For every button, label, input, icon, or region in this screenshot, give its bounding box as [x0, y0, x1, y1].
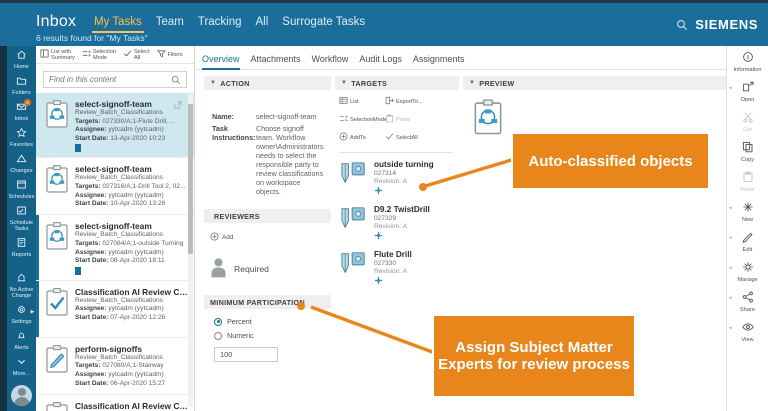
targets-selection-mode-button[interactable]: SelectionMode — [339, 114, 385, 125]
task-subtitle: Review_Batch_Classifications — [75, 174, 188, 183]
target-expand-icon[interactable] — [374, 231, 459, 243]
targets-add-to-button[interactable]: AddTo — [339, 132, 385, 143]
target-id: 027330 — [374, 260, 459, 268]
page-title: Inbox — [36, 13, 76, 31]
radio-percent-label: Percent — [227, 317, 252, 326]
rail-label: No Active Change — [7, 287, 36, 299]
tab-assignments[interactable]: Assignments — [413, 54, 465, 70]
target-revision-label: Revision: — [374, 223, 401, 230]
tab-overview[interactable]: Overview — [202, 54, 240, 70]
task-subtitle: Review_Batch_Classifications — [75, 297, 188, 306]
btn-line2: All — [412, 135, 418, 141]
task-title: Classification AI Review Clas... — [75, 401, 188, 411]
reviewer-label: Required — [234, 264, 269, 274]
paste-icon — [742, 174, 754, 186]
chevron-left-icon[interactable]: ◂ — [729, 295, 732, 301]
rail-label: Settings — [7, 319, 36, 325]
popout-icon[interactable] — [174, 100, 182, 112]
filter-icon — [157, 49, 166, 60]
search-input-wrapper[interactable] — [43, 71, 187, 88]
header-tab-all[interactable]: All — [254, 16, 271, 31]
btn-line1: Select — [396, 135, 412, 141]
folder-icon — [7, 75, 36, 89]
filters-button[interactable]: Filters — [157, 49, 183, 60]
btn-line2: To... — [412, 99, 423, 105]
task-list-item[interactable]: select-signoff-team Review_Batch_Classif… — [36, 93, 194, 158]
rail-label: More... — [7, 371, 36, 377]
btn-line1: Add — [350, 135, 360, 141]
task-targets-label: Targets: — [75, 362, 101, 369]
task-start-value: 13-Apr-2020 10:23 — [110, 135, 165, 142]
btn-line1: Paste — [396, 117, 410, 123]
rail-label: Favorites — [7, 142, 36, 148]
rail-item-alerts[interactable]: Alerts — [7, 327, 36, 353]
target-id: 027329 — [374, 215, 459, 223]
btn-line2: To — [360, 135, 366, 141]
tool-part-icon — [339, 160, 369, 198]
search-icon[interactable] — [171, 75, 181, 88]
target-expand-icon[interactable] — [374, 186, 459, 198]
search-input[interactable] — [49, 75, 169, 84]
select-all-button[interactable]: SelectAll — [123, 49, 150, 61]
btn-line2: Summary — [51, 55, 75, 61]
rail-item-schedule-tasks[interactable]: Schedule Tasks — [7, 202, 36, 234]
chevron-left-icon[interactable]: ◂ — [729, 325, 732, 331]
add-icon — [210, 232, 219, 243]
user-avatar[interactable] — [11, 385, 32, 406]
selection-mode-button[interactable]: SelectionMode — [82, 49, 116, 61]
action-instructions-label: Task Instructions: — [212, 124, 256, 196]
targets-select-all-button[interactable]: SelectAll — [385, 132, 431, 143]
task-targets-value: 027080/A;1-Stairway — [102, 362, 163, 369]
inbox-badge-count: 3 — [24, 99, 31, 106]
task-start-value: 07-Apr-2020 12:26 — [110, 314, 165, 321]
task-status-flag — [75, 267, 81, 275]
task-title: select-signoff-team — [75, 99, 188, 109]
task-assignee-value: yytcadm (yytcadm) — [108, 192, 163, 199]
header-tab-team[interactable]: Team — [154, 16, 186, 31]
task-assignee-value: yytcadm (yytcadm) — [108, 249, 163, 256]
callout-text: Assign Subject Matter Experts for review… — [434, 339, 634, 373]
target-revision-label: Revision: — [374, 178, 401, 185]
rail-item-folders[interactable]: Folders — [7, 72, 36, 98]
selection-mode-icon — [339, 114, 348, 125]
check-icon — [123, 49, 132, 60]
targets-paste-button[interactable]: Paste — [385, 114, 431, 125]
rail-label: Copy — [727, 157, 768, 163]
tab-attachments[interactable]: Attachments — [251, 54, 301, 70]
rail-label: Folders — [7, 90, 36, 96]
open-icon — [742, 84, 754, 96]
siemens-logo: SIEMENS — [695, 17, 758, 32]
list-with-summary-button[interactable]: List withSummary — [40, 49, 75, 61]
reviewers-body: Add Required — [204, 223, 331, 281]
task-list-item[interactable]: perform-signoffs Review_Batch_Classifica… — [36, 338, 194, 395]
rail-item-reports[interactable]: Reports — [7, 234, 36, 260]
check-icon — [385, 132, 394, 143]
task-list-item[interactable]: select-signoff-team Review_Batch_Classif… — [36, 215, 194, 280]
rail-label: Information — [727, 67, 768, 73]
results-count: 6 results found for "My Tasks" — [36, 33, 148, 43]
add-reviewer-button[interactable]: Add — [210, 232, 331, 243]
rail-item-more[interactable]: More... — [7, 353, 36, 379]
rail-label: Schedule Tasks — [7, 220, 36, 232]
bell-icon — [7, 330, 36, 344]
task-title: select-signoff-team — [75, 221, 188, 231]
header-tab-surrogate-tasks[interactable]: Surrogate Tasks — [280, 16, 367, 31]
rail-item-inbox[interactable]: 3 Inbox — [7, 98, 36, 124]
task-assignee-value: yytcadm (yytcadm) — [108, 371, 163, 378]
tab-workflow[interactable]: Workflow — [312, 54, 349, 70]
header-tab-tracking[interactable]: Tracking — [196, 16, 244, 31]
target-id: 027314 — [374, 170, 459, 178]
star-icon — [7, 127, 36, 141]
add-icon — [339, 132, 348, 143]
tool-part-icon — [339, 250, 369, 288]
task-assignee-value: yytcadm (yytcadm) — [108, 305, 163, 312]
rail-item-copy[interactable]: Copy — [727, 136, 768, 166]
clipboard-check-icon — [44, 401, 70, 411]
target-name: outside turning — [374, 160, 459, 170]
rail-label: Inbox — [7, 116, 36, 122]
reports-icon — [7, 237, 36, 251]
target-revision-value: A — [403, 268, 407, 275]
rail-item-open[interactable]: ◂ Open — [727, 76, 768, 106]
task-title: Classification AI Review Clas... — [75, 287, 188, 297]
chevron-down-icon[interactable]: ▼ — [341, 80, 347, 86]
action-column: ▼ ACTION Name: select-signoff-team Task … — [196, 76, 331, 362]
selection-mode-icon — [82, 49, 91, 60]
task-assignee-value: yytcadm (yytcadm) — [108, 126, 163, 133]
action-name-label: Name: — [212, 112, 256, 121]
action-section-header[interactable]: ▼ ACTION — [204, 76, 331, 90]
action-name-value: select-signoff-team — [256, 112, 323, 121]
task-subtitle: Review_Batch_Classifications — [75, 231, 188, 240]
task-list-item[interactable]: Classification AI Review Clas... Review_… — [36, 395, 194, 411]
chevron-down-icon[interactable]: ▼ — [210, 80, 216, 86]
rail-item-home[interactable]: Home — [7, 46, 36, 72]
btn-line2: All — [134, 55, 150, 61]
task-subtitle: Review_Batch_Classifications — [75, 109, 188, 118]
task-start-value: 08-Apr-2020 18:11 — [110, 257, 165, 264]
section-title: TARGETS — [351, 79, 387, 88]
task-targets-label: Targets: — [75, 118, 101, 125]
list-scrollbar-thumb[interactable] — [188, 104, 193, 254]
task-title: select-signoff-team — [75, 164, 188, 174]
chevron-left-icon[interactable]: ◂ — [729, 85, 732, 91]
list-summary-icon — [40, 49, 49, 60]
task-start-label: Start Date: — [75, 257, 108, 264]
btn-line1: Export — [396, 99, 412, 105]
target-revision-value: A — [403, 223, 407, 230]
rail-item-cut[interactable]: Cut — [727, 106, 768, 136]
share-icon — [742, 294, 754, 306]
targets-export-button[interactable]: ExportTo... — [385, 96, 431, 107]
task-targets-value: 027084/A;1-outside Turning — [102, 240, 183, 247]
rail-label: Alerts — [7, 345, 36, 351]
rail-label: Share — [727, 307, 768, 313]
task-targets-label: Targets: — [75, 183, 101, 190]
list-scrollbar[interactable] — [188, 94, 193, 407]
detail-tabs: Overview Attachments Workflow Audit Logs… — [196, 46, 726, 70]
rail-divider — [7, 260, 36, 269]
application-window: Inbox My Tasks Team Tracking All Surroga… — [0, 0, 768, 411]
task-assignee-label: Assignee: — [75, 371, 107, 378]
chevron-down-icon — [7, 356, 36, 370]
radio-numeric-label: Numeric — [227, 331, 254, 340]
minimum-participation-body: Percent Numeric 100 — [204, 309, 331, 362]
person-icon — [210, 257, 227, 281]
chevron-right-icon: ▶ — [31, 309, 35, 315]
btn-line1: List — [350, 99, 359, 105]
rail-label: Manage — [727, 277, 768, 283]
rail-label: Paste — [727, 187, 768, 193]
chevron-left-icon[interactable]: ◂ — [729, 265, 732, 271]
header-tab-my-tasks[interactable]: My Tasks — [92, 16, 144, 33]
left-navigation-rail: Home Folders 3 Inbox Favorites — [7, 3, 36, 411]
task-start-value: 06-Apr-2020 15:27 — [110, 380, 165, 387]
chevron-left-icon[interactable]: ◂ — [729, 235, 732, 241]
btn-line2: Mode — [93, 55, 116, 61]
action-instructions-value: Choose signoff team. Workflow owner\Admi… — [256, 124, 324, 196]
view-icon — [742, 324, 754, 336]
schedules-icon — [7, 179, 36, 193]
rail-item-information[interactable]: Information — [727, 46, 768, 76]
target-item[interactable]: outside turning 027314 Revision: A — [335, 153, 459, 198]
task-targets-value: 027316/A;1-Drill Tool 2, 02... — [102, 183, 185, 190]
chevron-down-icon[interactable]: ▼ — [469, 80, 475, 86]
task-targets-value: 027330/A;1-Flute Drill, ... — [102, 118, 175, 125]
rail-item-paste[interactable]: Paste — [727, 166, 768, 196]
target-expand-icon[interactable] — [374, 276, 459, 288]
rail-item-new[interactable]: ◂ New — [727, 196, 768, 226]
header-tabs: My Tasks Team Tracking All Surrogate Tas… — [92, 16, 367, 33]
btn-line1: Selection — [93, 49, 116, 55]
callout-text: Auto-classified objects — [528, 153, 692, 170]
action-instructions-row: Task Instructions: Choose signoff team. … — [212, 124, 323, 199]
section-title: PREVIEW — [479, 79, 514, 88]
clipboard-check-icon — [44, 287, 70, 332]
rail-label: View — [727, 337, 768, 343]
target-revision-label: Revision: — [374, 268, 401, 275]
task-assignee-label: Assignee: — [75, 249, 107, 256]
rail-item-settings[interactable]: ▶ Settings — [7, 301, 36, 327]
task-status-flag — [75, 144, 81, 152]
add-reviewer-label: Add — [222, 234, 233, 241]
paste-icon — [385, 114, 394, 125]
task-start-label: Start Date: — [75, 200, 108, 207]
section-title: MINIMUM PARTICIPATION — [210, 298, 305, 307]
rail-label: New — [727, 217, 768, 223]
preview-section-header[interactable]: ▼ PREVIEW — [463, 76, 726, 90]
task-list-item[interactable]: select-signoff-team Review_Batch_Classif… — [36, 158, 194, 215]
callout-auto-classified: Auto-classified objects — [513, 134, 708, 188]
targets-section-header[interactable]: ▼ TARGETS — [335, 76, 459, 90]
triangle-change-icon — [7, 153, 36, 167]
reviewer-item[interactable]: Required — [210, 257, 331, 281]
rail-label: Open — [727, 97, 768, 103]
task-assignee-label: Assignee: — [75, 305, 107, 312]
participation-value-input[interactable]: 100 — [214, 347, 278, 362]
btn-line1: Filters — [168, 52, 183, 58]
search-icon[interactable] — [676, 19, 688, 34]
task-subtitle: Review_Batch_Classifications — [75, 354, 188, 363]
home-icon — [7, 49, 36, 63]
right-command-rail: Information ◂ Open Cut Copy Paste ◂ New … — [726, 46, 768, 411]
rail-item-manage[interactable]: ◂ Manage — [727, 256, 768, 286]
radio-percent[interactable] — [214, 318, 222, 326]
section-title: REVIEWERS — [214, 212, 260, 221]
rail-item-view[interactable]: ◂ View — [727, 316, 768, 346]
task-start-label: Start Date: — [75, 380, 108, 387]
task-list[interactable]: select-signoff-team Review_Batch_Classif… — [36, 93, 194, 411]
radio-option-numeric[interactable]: Numeric — [214, 331, 331, 340]
task-start-label: Start Date: — [75, 135, 108, 142]
task-assignee-label: Assignee: — [75, 126, 107, 133]
rail-item-favorites[interactable]: Favorites — [7, 124, 36, 150]
task-assignee-label: Assignee: — [75, 192, 107, 199]
btn-line1: Selection — [350, 117, 373, 123]
action-name-row: Name: select-signoff-team — [212, 112, 323, 124]
rail-item-changes[interactable]: Changes — [7, 150, 36, 176]
task-start-value: 10-Apr-2020 13:28 — [110, 200, 165, 207]
reviewers-section-header[interactable]: REVIEWERS — [204, 209, 331, 223]
task-targets-label: Targets: — [75, 240, 101, 247]
tab-audit-logs[interactable]: Audit Logs — [359, 54, 402, 70]
callout-anchor-2 — [297, 302, 305, 310]
rail-item-schedules[interactable]: Schedules — [7, 176, 36, 202]
rail-item-share[interactable]: ◂ Share — [727, 286, 768, 316]
btn-line1: Select — [134, 49, 150, 55]
target-name: D9.2 TwistDrill — [374, 205, 459, 215]
rail-label: Changes — [7, 168, 36, 174]
radio-numeric[interactable] — [214, 332, 222, 340]
export-icon — [385, 96, 394, 107]
clipboard-classify-icon — [44, 164, 70, 209]
list-toolbar: List withSummary SelectionMode SelectAll… — [36, 46, 194, 64]
cut-icon — [742, 114, 754, 126]
target-item[interactable]: Flute Drill 027330 Revision: A — [335, 243, 459, 288]
rail-label: Edit — [727, 247, 768, 253]
radio-option-percent[interactable]: Percent — [214, 317, 331, 326]
task-list-pane: List withSummary SelectionMode SelectAll… — [36, 46, 195, 411]
target-revision-value: A — [403, 178, 407, 185]
window-left-edge — [0, 0, 7, 411]
no-active-change-icon — [7, 272, 36, 286]
callout-anchor-1 — [419, 183, 427, 191]
manage-icon — [742, 264, 754, 276]
copy-icon — [742, 144, 754, 156]
callout-assign-sme: Assign Subject Matter Experts for review… — [434, 316, 634, 396]
targets-toolbar: List ExportTo... SelectionMode — [335, 90, 459, 151]
rail-label: Home — [7, 64, 36, 70]
new-icon — [742, 204, 754, 216]
chevron-left-icon[interactable]: ◂ — [729, 205, 732, 211]
minimum-participation-section-header[interactable]: MINIMUM PARTICIPATION — [204, 295, 331, 309]
task-start-label: Start Date: — [75, 314, 108, 321]
clipboard-classify-icon — [44, 221, 70, 274]
schedule-tasks-icon — [7, 205, 36, 219]
clipboard-classify-icon — [44, 99, 70, 152]
clipboard-classify-icon — [471, 127, 505, 139]
task-list-item[interactable]: Classification AI Review Clas... Review_… — [36, 281, 194, 338]
inbox-icon — [7, 101, 36, 115]
task-title: perform-signoffs — [75, 344, 188, 354]
rail-label: Schedules — [7, 194, 36, 200]
targets-list-button[interactable]: List — [339, 96, 385, 107]
list-icon — [339, 96, 348, 107]
action-body: Name: select-signoff-team Task Instructi… — [204, 90, 331, 199]
tool-part-icon — [339, 205, 369, 243]
rail-item-no-active-change[interactable]: No Active Change — [7, 269, 36, 301]
target-item[interactable]: D9.2 TwistDrill 027329 Revision: A — [335, 198, 459, 243]
rail-item-edit[interactable]: ◂ Edit — [727, 226, 768, 256]
app-header: Inbox My Tasks Team Tracking All Surroga… — [0, 3, 768, 46]
info-icon — [742, 54, 754, 66]
rail-label: Reports — [7, 252, 36, 258]
clipboard-pencil-icon — [44, 344, 70, 389]
target-name: Flute Drill — [374, 250, 459, 260]
rail-label: Cut — [727, 127, 768, 133]
pencil-icon — [742, 234, 754, 246]
preview-body — [463, 90, 726, 139]
section-title: ACTION — [220, 79, 249, 88]
